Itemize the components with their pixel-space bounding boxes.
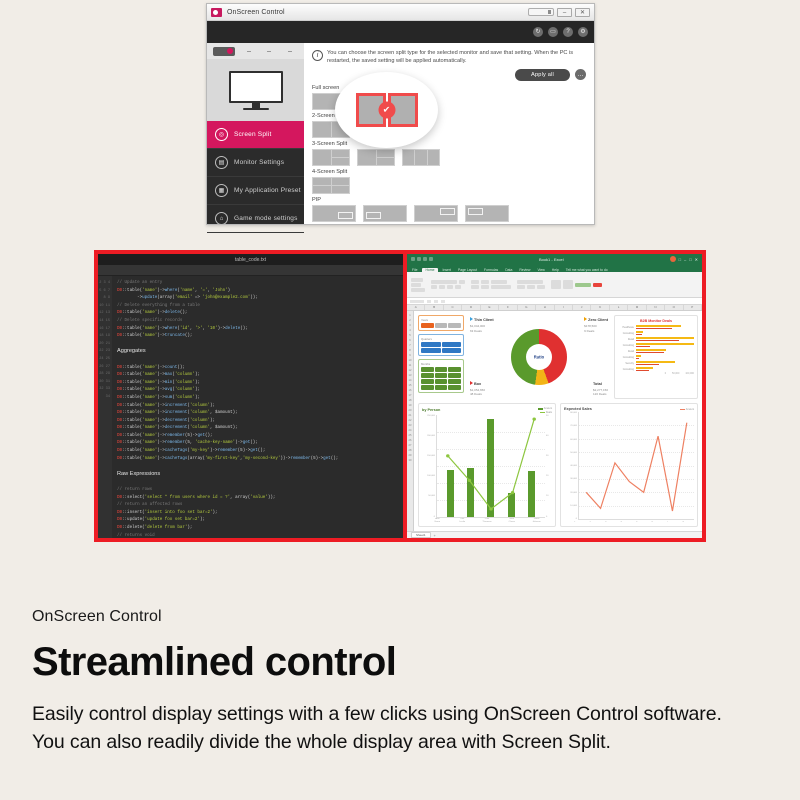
sidebar-item-monitor-settings[interactable]: ▤ Monitor Settings <box>207 149 304 177</box>
code-text: // Update an entry DB::table('name')->wh… <box>112 276 403 538</box>
bar-row: Consulting <box>618 331 694 335</box>
product-feature-page: OnScreen Control – ✕ ↻ ▭ ? ⚙ <box>0 0 800 800</box>
selected-monitor-chip[interactable] <box>213 47 235 56</box>
column-header[interactable]: A <box>407 305 425 310</box>
sidebar-item-my-application-preset[interactable]: ▦ My Application Preset <box>207 177 304 205</box>
window-titlebar: OnScreen Control – ✕ <box>207 4 594 21</box>
x-axis-ticks: 050,000100,000 <box>618 372 694 375</box>
minimize-button[interactable]: – <box>684 257 686 262</box>
sidebar-nav-list: ◎ Screen Split ▤ Monitor Settings ▦ My A… <box>207 121 304 233</box>
y-tick: 10,000 <box>564 505 577 507</box>
minimize-button[interactable]: – <box>557 8 572 17</box>
b2b-monitor-deals-chart: B2B Monitor Deals HealthcareConsultingRe… <box>614 315 698 399</box>
bar-label: Consulting <box>618 368 634 371</box>
x-tick: 2 <box>585 521 595 523</box>
window-title: OnScreen Control <box>227 9 285 16</box>
x-tick: 100,000 <box>685 372 694 375</box>
split-thumb-3-right-big[interactable] <box>357 149 395 166</box>
editor-code-area[interactable]: 2 3 4 5 6 7 8 9 10 11 12 13 14 15 16 17 … <box>98 276 403 538</box>
display-icon[interactable]: ▭ <box>548 27 558 37</box>
ratio-donut-chart: Thin Client $1,044,000 63 Deals Zero Cli… <box>468 315 610 399</box>
y-tick: 60,000 <box>564 439 577 441</box>
split-thumb-3-columns[interactable] <box>402 149 440 166</box>
x-tick: 6 <box>647 521 657 523</box>
row-headers: 1234567891011121314151617181920212223242… <box>407 311 414 531</box>
plot-area <box>578 412 694 520</box>
page-title: Streamlined control <box>32 640 742 685</box>
sidebar-item-game-mode-settings[interactable]: ⌂ Game mode settings <box>207 205 304 233</box>
split-group-label: 3-Screen Split <box>312 141 586 147</box>
info-text: You can choose the screen split type for… <box>327 49 586 66</box>
legend-label: Box <box>474 382 481 386</box>
formula-bar[interactable] <box>407 298 702 305</box>
donut-center-label: Ratio <box>534 355 544 360</box>
excel-window: Book1 - Excel □ – □ ✕ File Home Insert P… <box>407 254 702 538</box>
bar-track <box>636 337 694 341</box>
maximize-button[interactable]: □ <box>689 257 691 262</box>
x-tick: 3 <box>601 521 611 523</box>
bar-row: Consulting <box>618 343 694 347</box>
legend-entry: Deals <box>546 411 552 414</box>
apply-all-button[interactable]: Apply all <box>515 69 570 81</box>
column-header[interactable]: L <box>610 305 628 310</box>
bar-label: Retail <box>618 338 634 341</box>
marketing-copy: OnScreen Control Streamlined control Eas… <box>32 608 742 756</box>
x-tick: 7 <box>663 521 673 523</box>
apply-row: Apply all … <box>312 69 586 81</box>
y2-tick: 30 <box>546 455 552 457</box>
y-tick: 250,000 <box>422 415 435 417</box>
screen-split-icon: ◎ <box>215 128 228 141</box>
x-tick: 0 <box>665 372 666 375</box>
chart-title: by Person <box>422 408 440 412</box>
close-button[interactable]: ✕ <box>695 257 698 262</box>
chart-legend: Amount Deals <box>538 407 552 414</box>
column-header[interactable]: N <box>647 305 665 310</box>
bar-label: Consulting <box>618 356 634 359</box>
split-thumb-pip-bottom-left[interactable] <box>363 205 407 222</box>
info-icon: i <box>312 50 323 61</box>
donut-legend-total: Total $2,277,150 120 Deals <box>593 382 608 397</box>
monitor-preview <box>207 59 304 121</box>
plot-area <box>436 415 545 518</box>
y2-tick: 40 <box>546 435 552 437</box>
bar-label: Consulting <box>618 332 634 335</box>
x-tick: Jamie Johnson <box>532 518 542 523</box>
split-thumb-pip-top-right[interactable] <box>414 205 458 222</box>
check-icon: ✔ <box>378 102 395 119</box>
line-number-gutter: 2 3 4 5 6 7 8 9 10 11 12 13 14 15 16 17 … <box>98 276 112 538</box>
editor-toolbar <box>98 265 403 276</box>
split-thumb-4-quad[interactable] <box>312 177 350 194</box>
ribbon-display-icon[interactable]: □ <box>679 257 681 262</box>
magnifier-callout: ✔ <box>335 72 438 148</box>
more-options-icon[interactable]: … <box>575 69 586 80</box>
window-controls: – ✕ <box>528 8 590 17</box>
bar-track <box>636 325 694 329</box>
bar-track <box>636 343 694 347</box>
bar-track <box>636 349 694 353</box>
column-header[interactable]: B <box>425 305 443 310</box>
excel-status-bar: Sheet1 + <box>407 531 702 538</box>
worksheet: 1234567891011121314151617181920212223242… <box>407 311 702 531</box>
y2-tick: 20 <box>546 475 552 477</box>
x-tick: 8 <box>678 521 688 523</box>
donut-ring: Ratio <box>511 329 567 385</box>
bar-row: Retail <box>618 349 694 353</box>
by-person-chart: by Person Amount Deals 250,000200,000150… <box>418 403 556 527</box>
x-tick: Tom Leslie <box>457 518 467 523</box>
split-group-label: 4-Screen Split <box>312 169 586 175</box>
bar-row: Consulting <box>618 367 694 371</box>
sidebar-item-label: Game mode settings <box>234 215 298 222</box>
bar-track <box>636 361 694 365</box>
x-tick: 50,000 <box>672 372 679 375</box>
bar-label: Security <box>618 362 634 365</box>
y-axis: 80,00070,00060,00050,00040,00030,00020,0… <box>564 412 578 520</box>
bar-row: Healthcare <box>618 325 694 329</box>
slicer-years[interactable]: Years <box>418 315 464 331</box>
column-header[interactable]: I <box>555 305 573 310</box>
excel-ribbon-tabs: File Home Insert Page Layout Formulas Da… <box>407 264 702 272</box>
body-text: Easily control display settings with a f… <box>32 701 742 756</box>
legend-label: Total <box>593 382 602 386</box>
bar-track <box>636 367 694 371</box>
donut-legend-zero-client: Zero Client $178,500 9 Deals <box>584 317 608 333</box>
y-tick: 20,000 <box>564 492 577 494</box>
bar-track <box>636 355 694 359</box>
app-toolbar: ↻ ▭ ? ⚙ <box>207 21 594 43</box>
x-tick: 5 <box>632 521 642 523</box>
split-group-3-screen: 3-Screen Split <box>312 141 586 166</box>
sheet-tab[interactable]: Sheet1 <box>411 532 431 538</box>
y-tick: 50,000 <box>422 495 435 497</box>
settings-icon[interactable]: ⚙ <box>578 27 588 37</box>
add-sheet-icon[interactable]: + <box>434 533 436 538</box>
sidebar-item-screen-split[interactable]: ◎ Screen Split <box>207 121 304 149</box>
info-banner: i You can choose the screen split type f… <box>312 49 586 66</box>
slicer-quarters[interactable]: Quarters <box>418 334 464 356</box>
column-header[interactable]: D <box>462 305 480 310</box>
legend-entry: Amount <box>686 408 694 411</box>
rotate-icon[interactable]: ↻ <box>533 27 543 37</box>
editor-tab[interactable]: table_code.txt <box>235 257 266 263</box>
bar-row: Retail <box>618 337 694 341</box>
ribbon-group-clipboard[interactable] <box>411 278 425 292</box>
split-group-label: PIP <box>312 197 586 203</box>
ribbon-group-font[interactable] <box>431 280 465 289</box>
split-thumb-3-left-big[interactable] <box>312 149 350 166</box>
avatar[interactable] <box>670 256 676 262</box>
y-tick: 200,000 <box>422 435 435 437</box>
x-tick: Mike Chase <box>507 518 517 523</box>
chart-legend: Amount <box>680 408 694 411</box>
y-tick: 70,000 <box>564 425 577 427</box>
brightness-slider[interactable] <box>528 8 554 16</box>
y-tick: 50,000 <box>564 452 577 454</box>
y-axis: 250,000200,000150,000100,00050,0000 <box>422 415 436 518</box>
legend-label: Zero Client <box>588 318 608 322</box>
game-mode-icon: ⌂ <box>215 212 228 225</box>
sidebar-item-label: My Application Preset <box>234 187 301 194</box>
bar-label: Consulting <box>618 344 634 347</box>
excel-document-title: Book1 - Excel <box>433 257 670 262</box>
donut-legend-thin-client: Thin Client $1,044,000 63 Deals <box>470 317 494 333</box>
column-header[interactable]: G <box>518 305 536 310</box>
column-header[interactable]: K <box>591 305 609 310</box>
dashboard-canvas: Years Quarters Months <box>414 311 702 531</box>
column-header[interactable]: H <box>536 305 554 310</box>
x-tick: 1 <box>570 521 580 523</box>
y-tick: 30,000 <box>564 478 577 480</box>
editor-tabbar: table_code.txt <box>98 254 403 265</box>
split-thumb-pip-top-left[interactable] <box>465 205 509 222</box>
quick-access-toolbar[interactable] <box>411 257 433 261</box>
y2-tick: 10 <box>546 495 552 497</box>
eyebrow-text: OnScreen Control <box>32 608 742 626</box>
bar-track <box>636 331 694 335</box>
column-header[interactable]: O <box>665 305 683 310</box>
line-series <box>579 412 694 519</box>
secondary-y-axis: 50403020100 <box>545 415 552 518</box>
ribbon-group-styles[interactable] <box>551 280 602 289</box>
x-tick: Alan Ewen <box>432 518 442 523</box>
slicer-panel: Years Quarters Months <box>418 315 464 399</box>
legend-deals: 9 Deals <box>584 329 608 334</box>
bar-rows: HealthcareConsultingRetailConsultingReta… <box>618 325 694 371</box>
excel-ribbon <box>407 272 702 298</box>
bar-label: Retail <box>618 350 634 353</box>
slicer-title: Months <box>421 362 461 366</box>
slicer-title: Years <box>421 318 461 322</box>
sidebar-item-label: Monitor Settings <box>234 159 284 166</box>
x-tick: Pam Thomson <box>482 518 492 523</box>
split-group-4-screen: 4-Screen Split <box>312 169 586 194</box>
column-header[interactable]: C <box>444 305 462 310</box>
close-button[interactable]: ✕ <box>575 8 590 17</box>
chart-title: Expected Sales <box>564 407 592 411</box>
column-header[interactable]: P <box>684 305 702 310</box>
sidebar-item-label: Screen Split <box>234 131 271 138</box>
slicer-title: Quarters <box>421 337 461 341</box>
legend-deals: 120 Deals <box>593 392 608 397</box>
lg-logo-icon <box>211 8 222 17</box>
ribbon-group-number[interactable] <box>517 280 545 289</box>
excel-titlebar: Book1 - Excel □ – □ ✕ <box>407 254 702 264</box>
legend-deals: 63 Deals <box>470 329 494 334</box>
monitor-screen-icon <box>229 71 283 103</box>
legend-label: Thin Client <box>474 318 494 322</box>
magnified-2-screen-split: ✔ <box>356 93 418 127</box>
x-tick: 4 <box>616 521 626 523</box>
row-header[interactable]: 30 <box>407 458 413 463</box>
split-group-pip: PIP <box>312 197 586 222</box>
monitor-settings-icon: ▤ <box>215 156 228 169</box>
column-header[interactable]: J <box>573 305 591 310</box>
x-axis: Alan EwenTom LesliePam ThomsonMike Chase… <box>422 518 552 523</box>
y-tick: 40,000 <box>564 465 577 467</box>
slicer-months[interactable]: Months <box>418 359 464 393</box>
chart-title: B2B Monitor Deals <box>618 319 694 323</box>
y-tick: 150,000 <box>422 455 435 457</box>
bar-row: Consulting <box>618 355 694 359</box>
split-thumb-pip-bottom-right[interactable] <box>312 205 356 222</box>
column-header[interactable]: F <box>499 305 517 310</box>
y2-tick: 50 <box>546 415 552 417</box>
bar-label: Healthcare <box>618 326 634 329</box>
monitor-screen-split-demo: table_code.txt 2 3 4 5 6 7 8 9 10 11 12 … <box>94 250 706 542</box>
column-header[interactable]: E <box>481 305 499 310</box>
excel-window-controls: □ – □ ✕ <box>670 256 698 262</box>
help-icon[interactable]: ? <box>563 27 573 37</box>
column-header[interactable]: M <box>628 305 646 310</box>
y-tick: 100,000 <box>422 475 435 477</box>
monitor-dots <box>235 51 304 52</box>
code-editor-window: table_code.txt 2 3 4 5 6 7 8 9 10 11 12 … <box>98 254 403 538</box>
donut-legend-box: Box $1,054,650 48 Deals <box>470 381 485 397</box>
x-axis: 12345678 <box>564 521 694 523</box>
bar-row: Security <box>618 361 694 365</box>
monitor-selector[interactable] <box>207 43 304 59</box>
legend-deals: 48 Deals <box>470 392 485 397</box>
sidebar: ◎ Screen Split ▤ Monitor Settings ▦ My A… <box>207 43 304 224</box>
line-series <box>437 415 545 517</box>
app-preset-icon: ▦ <box>215 184 228 197</box>
ribbon-group-alignment[interactable] <box>471 280 511 289</box>
y-tick: 80,000 <box>564 412 577 414</box>
expected-sales-chart: Expected Sales Amount 80,00070,00060,000… <box>560 403 698 527</box>
